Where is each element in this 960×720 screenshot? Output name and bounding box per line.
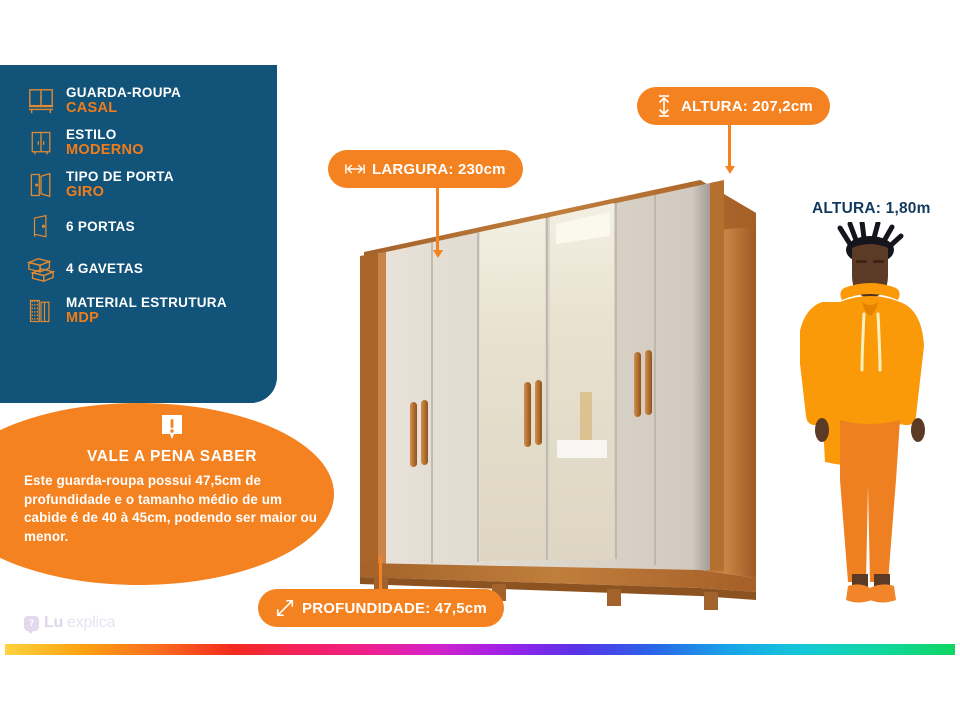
know-block: VALE A PENA SABER Este guarda-roupa poss… [22,412,322,546]
spec-value: GIRO [66,184,174,200]
spec-item-material: MATERIAL ESTRUTURA MDP [22,293,272,329]
shoe-left [846,584,872,602]
spec-list: GUARDA-ROUPA CASAL ESTILO MODERNO [22,83,272,335]
spec-value: MDP [66,310,227,326]
spec-item-guarda-roupa: GUARDA-ROUPA CASAL [22,83,272,119]
spec-label: 4 GAVETAS [66,261,143,276]
spec-label: 6 PORTAS [66,219,135,234]
lu-explica-logo: ? Lu explica [24,614,115,632]
know-title: VALE A PENA SABER [22,448,322,466]
width-arrow-icon [345,159,365,179]
person-scale-figure [800,222,940,617]
spec-label: MATERIAL ESTRUTURA [66,295,227,310]
know-body: Este guarda-roupa possui 47,5cm de profu… [22,472,322,546]
spec-label: ESTILO [66,127,144,142]
height-arrow-icon [654,96,674,116]
drawers-icon [22,251,60,287]
right-wood-strip [710,180,724,571]
wardrobe-product-image [352,140,772,615]
pants [840,420,900,582]
badge-altura: ALTURA: 207,2cm [637,87,830,125]
wardrobe-svg [352,140,772,615]
badge-altura-text: ALTURA: 207,2cm [681,98,813,115]
hand-left [815,418,829,442]
logo-word-lu: Lu [44,614,63,632]
shoe-right [870,584,896,602]
eye-left [856,260,867,263]
left-post [360,253,378,565]
spec-item-estilo: ESTILO MODERNO [22,125,272,161]
badge-largura: LARGURA: 230cm [328,150,523,188]
rainbow-divider-bar [5,644,955,655]
logo-word-explica: explica [67,614,115,632]
mdp-board-icon [22,293,60,329]
mirror-bed-reflection [557,440,607,458]
exclamation-icon [157,412,187,442]
right-accent-stripe [692,183,710,572]
depth-arrow-icon [275,598,295,618]
mirror-panel-right [550,203,614,560]
spec-label: TIPO DE PORTA [66,169,174,184]
door-type-icon [22,167,60,203]
spec-item-tipo-porta: TIPO DE PORTA GIRO [22,167,272,203]
spec-value: CASAL [66,100,181,116]
open-door-icon [22,209,60,245]
wardrobe-style-icon [22,125,60,161]
person-height-label: ALTURA: 1,80m [812,200,931,218]
badge-profundidade: PROFUNDIDADE: 47,5cm [258,589,504,627]
wardrobe-bed-icon [22,83,60,119]
left-post-highlight [378,252,386,565]
speech-bubble-icon: ? [24,616,39,631]
leader-line-largura [436,186,439,252]
bubble-glyph: ? [29,619,35,628]
spec-value: MODERNO [66,142,144,158]
leader-line-altura [728,123,731,168]
spec-item-portas: 6 PORTAS [22,209,272,245]
person-svg [800,222,940,617]
eye-right [873,260,884,263]
spec-label: GUARDA-ROUPA [66,85,181,100]
hand-right [911,418,925,442]
badge-profundidade-text: PROFUNDIDADE: 47,5cm [302,600,487,617]
badge-largura-text: LARGURA: 230cm [372,161,506,178]
spec-item-gavetas: 4 GAVETAS [22,251,272,287]
spec-panel: GUARDA-ROUPA CASAL ESTILO MODERNO [0,65,277,403]
mirror-lamp-reflection [580,392,592,440]
